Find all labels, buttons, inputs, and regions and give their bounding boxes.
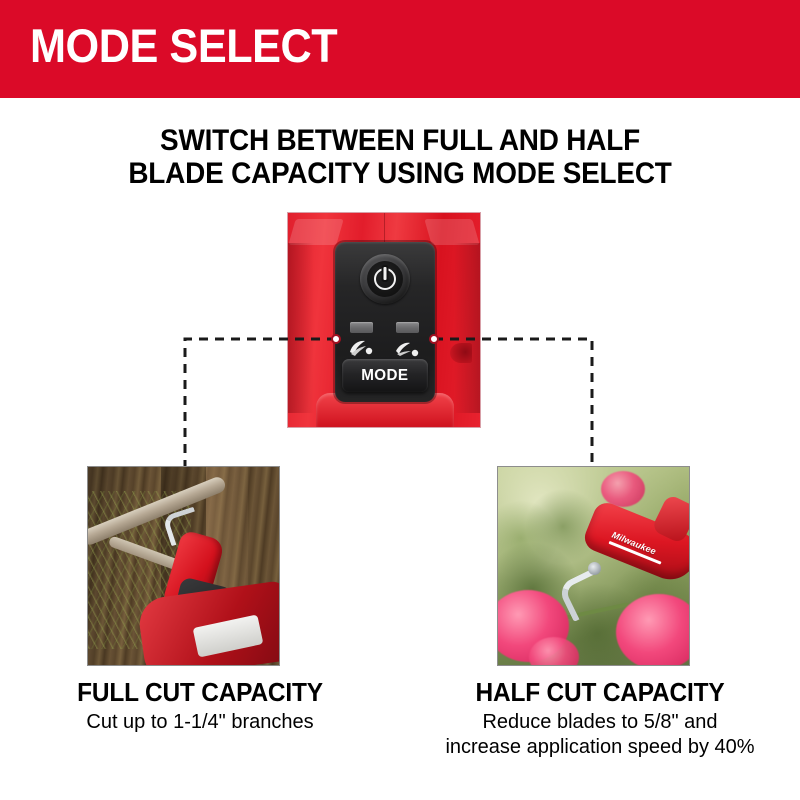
pruner-pivot-half	[588, 562, 601, 575]
housing-shadow-left	[288, 243, 314, 413]
headline: SWITCH BETWEEN FULL AND HALF BLADE CAPAC…	[0, 124, 800, 190]
full-cut-title-text: FULL CUT CAPACITY	[21, 678, 378, 707]
half-capacity-indicator-led	[396, 322, 419, 333]
housing-highlight-left	[288, 219, 343, 245]
full-cut-title: FULL CUT CAPACITY	[10, 678, 390, 707]
mode-button[interactable]: MODE	[342, 359, 428, 392]
header-banner: MODE SELECT	[0, 0, 800, 98]
power-button[interactable]	[360, 254, 410, 304]
rose-bloom	[616, 594, 690, 666]
full-cut-photo	[87, 466, 280, 666]
headline-line-1: SWITCH BETWEEN FULL AND HALF	[28, 124, 772, 157]
half-cut-subtitle-line-2: increase application speed by 40%	[410, 735, 790, 760]
housing-highlight-right	[424, 219, 479, 245]
half-cut-subtitle-line-1: Reduce blades to 5/8" and	[410, 710, 790, 735]
half-cut-title-text: HALF CUT CAPACITY	[421, 678, 778, 707]
half-cut-caption: HALF CUT CAPACITY Reduce blades to 5/8" …	[410, 678, 790, 760]
full-cut-subtitle: Cut up to 1-1/4" branches	[10, 710, 390, 735]
rose-bloom	[529, 637, 579, 666]
half-blade-icon	[393, 338, 421, 358]
headline-line-2: BLADE CAPACITY USING MODE SELECT	[28, 157, 772, 190]
rose-bloom	[601, 471, 645, 507]
page-title: MODE SELECT	[30, 18, 337, 74]
housing-knob	[450, 343, 472, 363]
half-cut-subtitle: Reduce blades to 5/8" and increase appli…	[410, 710, 790, 760]
power-icon	[374, 268, 396, 290]
full-capacity-indicator-led	[350, 322, 373, 333]
half-cut-photo: Milwaukee	[497, 466, 690, 666]
housing-shadow-right	[454, 243, 480, 413]
full-cut-caption: FULL CUT CAPACITY Cut up to 1-1/4" branc…	[10, 678, 390, 735]
product-control-panel-photo: MODE	[287, 212, 481, 428]
mode-button-label: MODE	[361, 367, 408, 385]
full-blade-icon	[347, 338, 375, 358]
control-pad: MODE	[335, 242, 435, 402]
mode-select-infographic: MODE SELECT SWITCH BETWEEN FULL AND HALF…	[0, 0, 800, 800]
power-button-inner	[367, 261, 403, 297]
half-cut-title: HALF CUT CAPACITY	[410, 678, 790, 707]
full-cut-subtitle-line-1: Cut up to 1-1/4" branches	[10, 710, 390, 735]
